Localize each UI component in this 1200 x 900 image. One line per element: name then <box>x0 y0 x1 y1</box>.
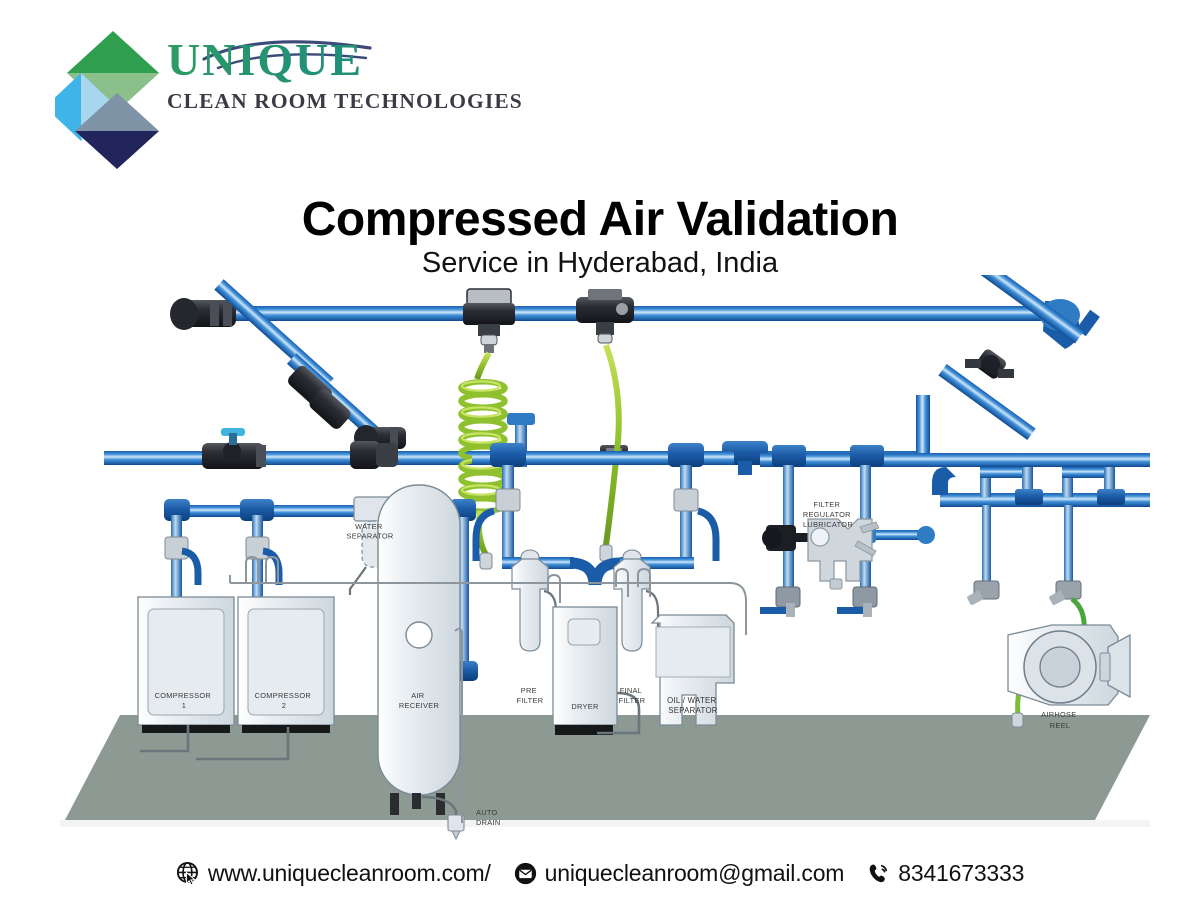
globe-cursor-icon <box>176 861 201 886</box>
pipe-union-mid <box>350 441 398 469</box>
footer-email-text: uniquecleanroom@gmail.com <box>545 860 845 887</box>
label-auto-drain: AUTO DRAIN <box>476 808 501 827</box>
contact-footer: www.uniquecleanroom.com/ uniquecleanroom… <box>0 850 1200 896</box>
pipe-tee-dropleg-2 <box>850 445 884 467</box>
airhose-reel-unit <box>1008 625 1130 705</box>
footer-website-text: www.uniquecleanroom.com/ <box>208 860 491 887</box>
brand-name: UNIQUE <box>167 37 527 83</box>
envelope-icon <box>513 861 538 886</box>
footer-phone-text: 8341673333 <box>898 860 1024 887</box>
footer-phone[interactable]: 8341673333 <box>866 860 1024 887</box>
phone-icon <box>866 861 891 886</box>
pipe-tee-prefilter <box>490 443 526 467</box>
hose-drop-fitting-1 <box>463 289 515 353</box>
compressor-1-cabinet <box>138 597 234 733</box>
compressed-air-system-diagram: WATER SEPARATOR COMPRESSOR 1 COMPRESSOR … <box>60 275 1150 840</box>
pipe-tee-finalfilter <box>668 443 704 467</box>
pipe-tee-frl <box>772 445 806 467</box>
label-oil-water-separator: OIL / WATER SEPARATOR <box>667 696 719 715</box>
pipe-elbow-top-left <box>170 298 236 330</box>
upper-main-pipe-run <box>170 275 1100 451</box>
compressor-2-cabinet <box>238 597 334 733</box>
footer-email[interactable]: uniquecleanroom@gmail.com <box>513 860 845 887</box>
outlet-coupler-1 <box>966 581 999 606</box>
label-pre-filter: PRE FILTER <box>517 686 544 705</box>
footer-website[interactable]: www.uniquecleanroom.com/ <box>176 860 491 887</box>
label-filter-regulator-lubricator: FILTER REGULATOR LUBRICATOR <box>803 500 853 529</box>
ball-valve-mid-left <box>202 428 266 469</box>
poster-page: UNIQUE CLEAN ROOM TECHNOLOGIES Compresse… <box>0 0 1200 900</box>
page-title: Compressed Air Validation <box>0 192 1200 247</box>
dryer-cabinet <box>553 607 617 735</box>
label-dryer: DRYER <box>571 702 598 711</box>
company-logo: UNIQUE CLEAN ROOM TECHNOLOGIES <box>55 25 485 170</box>
pipe-elbow-subheader-left <box>932 467 956 495</box>
frl-riser <box>760 465 935 617</box>
label-final-filter: FINAL FILTER <box>619 686 646 705</box>
frl-riser-drain-1 <box>760 587 800 617</box>
frl-riser-drain-2 <box>837 587 877 617</box>
hose-drop-fitting-2 <box>576 289 634 343</box>
brand-tagline: CLEAN ROOM TECHNOLOGIES <box>167 89 527 114</box>
logo-diamonds-icon <box>55 25 170 170</box>
pipe-tee-diagonal-right <box>965 347 1014 380</box>
